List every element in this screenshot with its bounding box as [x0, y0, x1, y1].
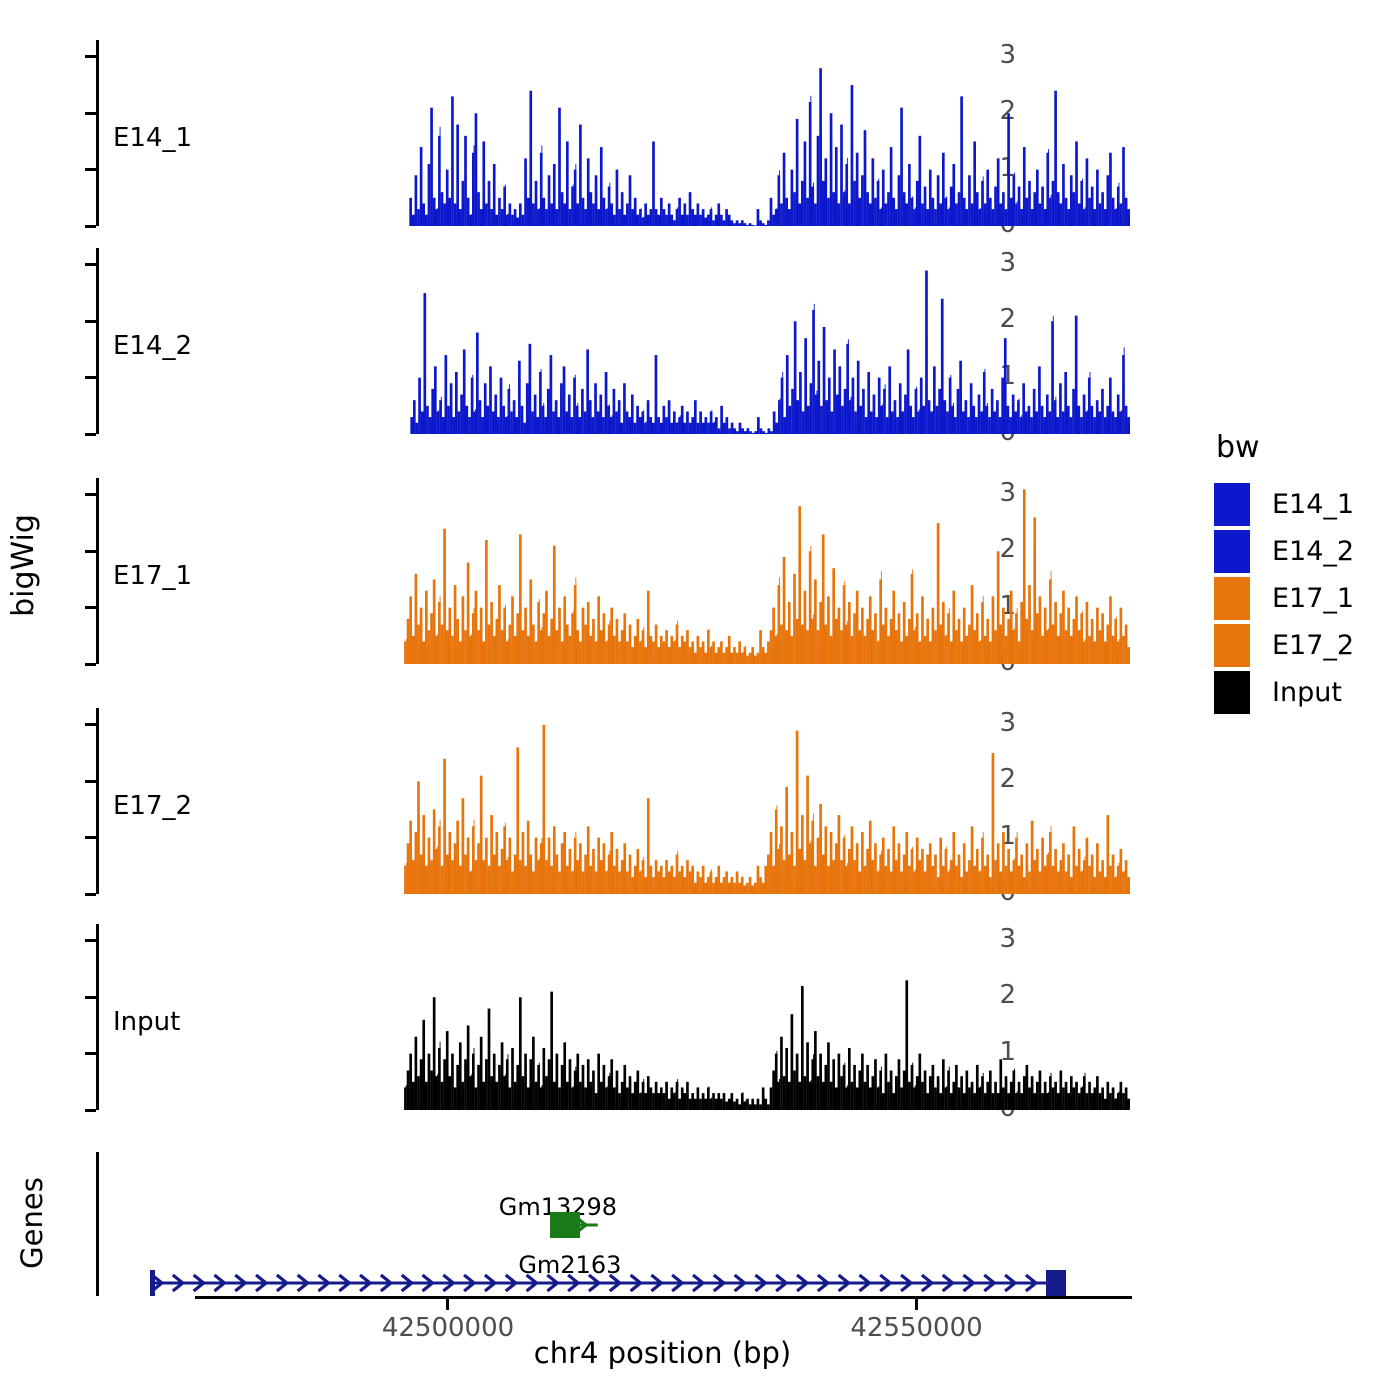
y-tick — [85, 225, 96, 228]
y-tick — [85, 723, 96, 726]
panel-axis-line — [96, 40, 99, 226]
gene-start-marker — [150, 1270, 155, 1296]
y-tick — [85, 433, 96, 436]
legend-swatch — [1214, 483, 1250, 526]
legend-swatch — [1214, 671, 1250, 714]
y-tick — [85, 320, 96, 323]
legend-label: E17_2 — [1272, 630, 1354, 661]
coverage-area-e14_1 — [237, 40, 1130, 226]
genes-strip-label-text: Genes — [15, 1177, 49, 1269]
coverage-panel-e17_2: 0123E17_2 — [96, 708, 1134, 894]
legend: bw E14_1E14_2E17_1E17_2Input — [1214, 430, 1394, 716]
legend-item-e14_1[interactable]: E14_1 — [1214, 481, 1394, 528]
coverage-panel-input: 0123Input — [96, 924, 1134, 1110]
coverage-panel-e14_1: 0123E14_1 — [96, 40, 1134, 226]
genes-strip-label: Genes — [8, 1148, 56, 1298]
y-tick — [85, 263, 96, 266]
y-axis-title: bigWig — [0, 0, 46, 1130]
y-axis-title-text: bigWig — [6, 514, 41, 617]
track-label-e14_2: E14_2 — [113, 331, 192, 361]
y-tick — [85, 663, 96, 666]
legend-label: E17_1 — [1272, 583, 1354, 614]
genes-axis-line — [96, 1152, 99, 1296]
x-axis-title: chr4 position (bp) — [195, 1336, 1130, 1370]
y-tick — [85, 606, 96, 609]
legend-item-e14_2[interactable]: E14_2 — [1214, 528, 1394, 575]
x-tick — [915, 1299, 918, 1310]
gene-exon-gm2163 — [1046, 1270, 1066, 1296]
x-tick — [446, 1299, 449, 1310]
legend-items: E14_1E14_2E17_1E17_2Input — [1214, 481, 1394, 716]
gene-exon-gm13298 — [550, 1212, 580, 1238]
coverage-area-input — [237, 924, 1130, 1110]
track-label-e14_1: E14_1 — [113, 123, 192, 153]
legend-title: bw — [1216, 430, 1394, 465]
y-tick — [85, 996, 96, 999]
coverage-panel-e17_1: 0123E17_1 — [96, 478, 1134, 664]
legend-item-e17_2[interactable]: E17_2 — [1214, 622, 1394, 669]
track-label-input: Input — [113, 1007, 180, 1037]
track-label-e17_1: E17_1 — [113, 561, 192, 591]
y-tick — [85, 112, 96, 115]
genome-coverage-plot: bigWig 0123E14_10123E14_20123E17_10123E1… — [0, 0, 1400, 1400]
y-tick — [85, 493, 96, 496]
panel-axis-line — [96, 924, 99, 1110]
legend-label: E14_1 — [1272, 489, 1354, 520]
coverage-panel-e14_2: 0123E14_2 — [96, 248, 1134, 434]
y-tick — [85, 168, 96, 171]
y-tick — [85, 939, 96, 942]
y-tick — [85, 550, 96, 553]
legend-label: E14_2 — [1272, 536, 1354, 567]
legend-item-input[interactable]: Input — [1214, 669, 1394, 716]
panel-axis-line — [96, 478, 99, 664]
coverage-area-e17_1 — [237, 478, 1130, 664]
track-label-e17_2: E17_2 — [113, 791, 192, 821]
gene-body-gm2163 — [150, 1270, 1066, 1296]
y-tick — [85, 1052, 96, 1055]
y-tick — [85, 780, 96, 783]
genes-panel: Gm13298Gm2163 — [96, 1152, 1134, 1296]
y-tick — [85, 55, 96, 58]
legend-swatch — [1214, 624, 1250, 667]
legend-swatch — [1214, 530, 1250, 573]
legend-item-e17_1[interactable]: E17_1 — [1214, 575, 1394, 622]
x-axis-line — [195, 1296, 1132, 1299]
coverage-area-e14_2 — [237, 248, 1130, 434]
panel-axis-line — [96, 248, 99, 434]
y-tick — [85, 836, 96, 839]
y-tick — [85, 376, 96, 379]
panel-axis-line — [96, 708, 99, 894]
coverage-area-e17_2 — [237, 708, 1130, 894]
y-tick — [85, 893, 96, 896]
y-tick — [85, 1109, 96, 1112]
legend-swatch — [1214, 577, 1250, 620]
legend-label: Input — [1272, 677, 1342, 708]
